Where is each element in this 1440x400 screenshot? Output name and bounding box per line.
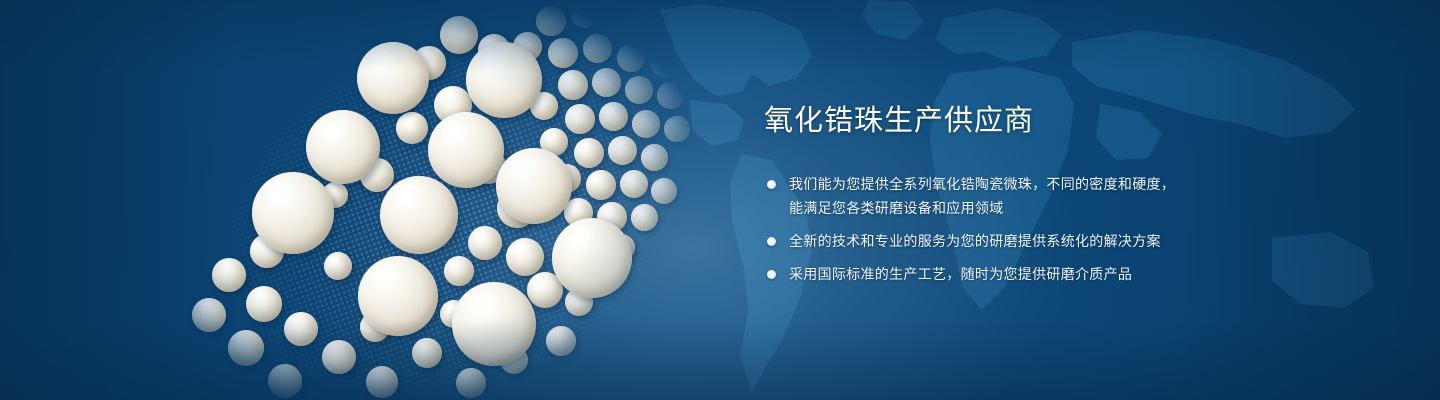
hero-banner: 氧化锆珠生产供应商 我们能为您提供全系列氧化锆陶瓷微珠，不同的密度和硬度， 能满… [0, 0, 1440, 400]
bullet-dot-icon [767, 237, 776, 246]
bullet-item-2: 全新的技术和专业的服务为您的研磨提供系统化的解决方案 [764, 229, 1324, 253]
bullet-dot-icon [767, 180, 776, 189]
banner-bullet-list: 我们能为您提供全系列氧化锆陶瓷微珠，不同的密度和硬度， 能满足您各类研磨设备和应… [764, 172, 1324, 286]
bullet-dot-icon [767, 270, 776, 279]
zirconia-beads-photo [0, 0, 720, 400]
bullet-item-2-line-1: 全新的技术和专业的服务为您的研磨提供系统化的解决方案 [789, 229, 1324, 253]
banner-headline: 氧化锆珠生产供应商 [764, 106, 1324, 138]
bullet-item-1-line-2: 能满足您各类研磨设备和应用领域 [789, 196, 1324, 220]
banner-copy: 氧化锆珠生产供应商 我们能为您提供全系列氧化锆陶瓷微珠，不同的密度和硬度， 能满… [764, 106, 1324, 286]
bullet-item-1: 我们能为您提供全系列氧化锆陶瓷微珠，不同的密度和硬度， 能满足您各类研磨设备和应… [764, 172, 1324, 220]
bullet-item-1-line-1: 我们能为您提供全系列氧化锆陶瓷微珠，不同的密度和硬度， [789, 172, 1324, 196]
bullet-item-3: 采用国际标准的生产工艺，随时为您提供研磨介质产品 [764, 262, 1324, 286]
bullet-item-3-line-1: 采用国际标准的生产工艺，随时为您提供研磨介质产品 [789, 262, 1324, 286]
